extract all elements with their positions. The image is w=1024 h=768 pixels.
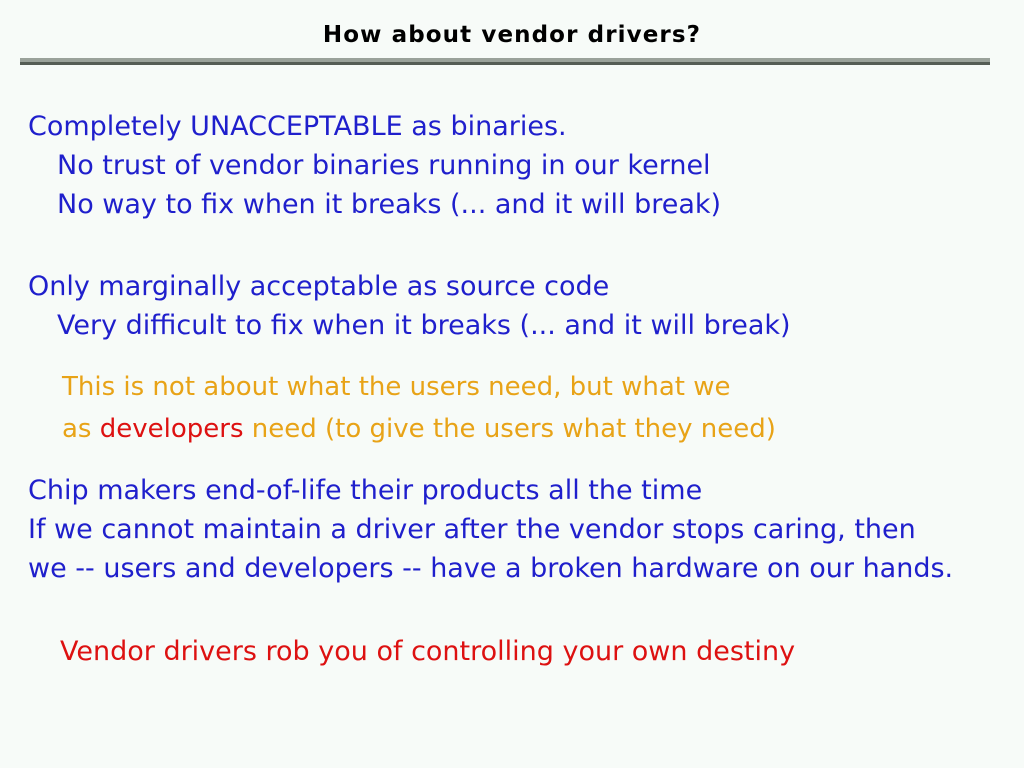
eol-line-3: we -- users and developers -- have a bro… — [28, 555, 953, 582]
slide: How about vendor drivers? Completely UNA… — [0, 0, 1024, 768]
slide-body: Completely UNACCEPTABLE as binaries. No … — [0, 0, 1024, 768]
binaries-heading: Completely UNACCEPTABLE as binaries. — [28, 113, 567, 140]
source-code-heading: Only marginally acceptable as source cod… — [28, 273, 609, 300]
emphasis-line-1: This is not about what the users need, b… — [62, 374, 730, 400]
emphasis-line-2-prefix: as — [62, 414, 100, 444]
emphasis-line-2-suffix: need (to give the users what they need) — [244, 414, 776, 444]
source-code-bullet-1: Very difficult to fix when it breaks (..… — [57, 312, 791, 339]
binaries-bullet-1: No trust of vendor binaries running in o… — [57, 152, 711, 179]
emphasis-line-2: as developers need (to give the users wh… — [62, 416, 776, 442]
eol-line-2: If we cannot maintain a driver after the… — [28, 516, 916, 543]
binaries-bullet-2: No way to fix when it breaks (... and it… — [57, 191, 721, 218]
emphasis-line-2-highlight: developers — [100, 414, 244, 444]
conclusion-line-1: Vendor drivers rob you of controlling yo… — [60, 638, 795, 665]
eol-line-1: Chip makers end-of-life their products a… — [28, 477, 702, 504]
